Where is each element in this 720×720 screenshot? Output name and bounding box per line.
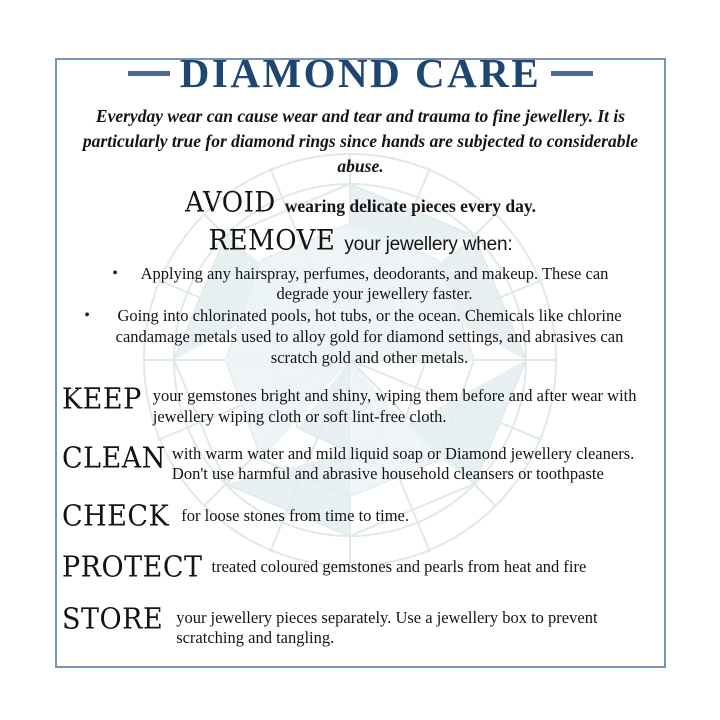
- page-title: DIAMOND CARE: [180, 53, 541, 94]
- avoid-keyword: AVOID: [185, 187, 276, 219]
- check-keyword: CHECK: [62, 500, 169, 531]
- remove-text: your jewellery when:: [344, 234, 512, 256]
- check-text: for loose stones from time to time.: [169, 506, 666, 527]
- remove-keyword: REMOVE: [209, 225, 336, 257]
- list-item: • Going into chlorinated pools, hot tubs…: [75, 306, 646, 369]
- protect-text: treated coloured gemstones and pearls fr…: [203, 553, 666, 578]
- poster-content: DIAMOND CARE Everyday wear can cause wea…: [55, 58, 666, 668]
- remove-bullet-list: • Applying any hairspray, perfumes, deod…: [55, 264, 666, 370]
- section-clean: CLEAN with warm water and mild liquid so…: [55, 444, 666, 485]
- keep-text: your gemstones bright and shiny, wiping …: [142, 385, 666, 427]
- section-check: CHECK for loose stones from time to time…: [55, 502, 666, 531]
- bullet-dot-icon: •: [79, 306, 95, 326]
- remove-line: REMOVE your jewellery when:: [55, 227, 666, 257]
- keep-keyword: KEEP: [62, 384, 142, 415]
- list-item: • Applying any hairspray, perfumes, deod…: [75, 264, 646, 306]
- store-keyword: STORE: [62, 603, 163, 634]
- intro-paragraph: Everyday wear can cause wear and tear an…: [55, 102, 666, 179]
- list-item-text: Going into chlorinated pools, hot tubs, …: [95, 306, 644, 369]
- list-item-text: Applying any hairspray, perfumes, deodor…: [123, 264, 626, 306]
- title-right-dash: [551, 71, 593, 76]
- clean-text: with warm water and mild liquid soap or …: [166, 444, 666, 485]
- section-keep: KEEP your gemstones bright and shiny, wi…: [55, 385, 666, 427]
- section-store: STORE your jewellery pieces separately. …: [55, 605, 666, 649]
- section-protect: PROTECT treated coloured gemstones and p…: [55, 553, 666, 582]
- bullet-dot-icon: •: [107, 264, 123, 284]
- avoid-text: wearing delicate pieces every day.: [285, 196, 536, 217]
- clean-keyword: CLEAN: [62, 442, 166, 473]
- store-text: your jewellery pieces separately. Use a …: [163, 605, 666, 649]
- title-row: DIAMOND CARE: [55, 44, 666, 102]
- avoid-line: AVOID wearing delicate pieces every day.: [55, 189, 666, 219]
- title-left-dash: [128, 71, 170, 76]
- protect-keyword: PROTECT: [62, 551, 203, 582]
